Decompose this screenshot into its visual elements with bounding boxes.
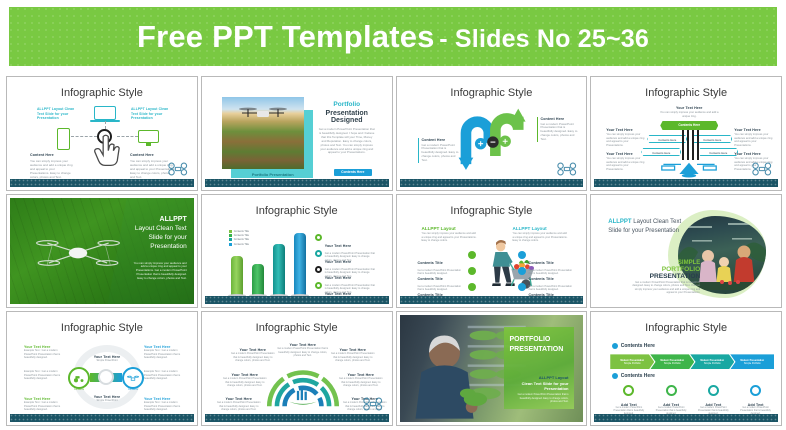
smartphone-icon: [57, 128, 70, 150]
slide-footer-bar: [10, 414, 194, 422]
ring-icon: [315, 250, 322, 257]
icon-card: Add Text Get a modern PowerPoint Present…: [653, 383, 690, 416]
slides-gallery-page: Free PPT Templates - Slides No 25~36 Inf…: [0, 0, 786, 430]
slide-title: Infographic Style: [594, 322, 778, 334]
slide-footer-bar: [205, 296, 389, 304]
chevron-row: Modern Presentation Simple Portfolio Mod…: [610, 354, 774, 369]
banner-subtitle: - Slides No 25~36: [439, 25, 649, 53]
curved-arrows-graphic: [448, 102, 546, 174]
slide-title: Infographic Style: [205, 322, 389, 334]
portfolio-heading: Portfolio Presentation Designed: [319, 101, 375, 124]
arc-label: Your Text Here Get a modern PowerPoint P…: [277, 343, 329, 357]
slide-thumbnail-1[interactable]: Infographic Style: [6, 76, 198, 191]
chevron-step: Modern Presentation Simple Portfolio: [690, 354, 734, 369]
slide-thumbnail-6[interactable]: Infographic Style Contents Title Content…: [201, 194, 393, 309]
vertical-farm-worker-photo: PORTFOLIO PRESENTATION ALLPPT Layout Cle…: [400, 315, 584, 422]
slide-thumbnail-2[interactable]: Portfolio Presentation Portfolio Present…: [201, 76, 393, 191]
stem-line: [682, 130, 683, 160]
badge-label-left: Contents: [67, 388, 91, 391]
slide-thumbnail-9[interactable]: Infographic Style Contents Contents Your…: [6, 311, 198, 426]
corner-text-block: Your Text Here Example Text : Get a mode…: [144, 397, 190, 412]
gear-icon: [518, 251, 526, 259]
portfolio-line1: PORTFOLIO: [510, 336, 551, 343]
badge-label-right: Contents: [121, 388, 145, 391]
slide-body: You can simply impress your audience and…: [133, 262, 187, 281]
arc-label: Your Text Here Get a modern PowerPoint P…: [223, 373, 267, 387]
drone-watermark-icon: [167, 162, 189, 176]
ring-icon: [315, 266, 322, 273]
arc-label: Your Text Here Get a modern PowerPoint P…: [217, 397, 261, 411]
slide-title: Infographic Style: [400, 87, 584, 99]
concentric-arcs-graphic: [257, 359, 349, 409]
tractor-icon: [73, 374, 85, 383]
slide-title: Infographic Style: [205, 205, 389, 217]
stem-line: [692, 130, 693, 160]
stem-line: [687, 130, 688, 160]
ring-icon: [315, 282, 322, 289]
header-banner: Free PPT Templates - Slides No 25~36: [9, 7, 777, 66]
drone-icon: [127, 374, 139, 383]
chart-bar: [273, 244, 285, 296]
slide-thumbnail-11[interactable]: PORTFOLIO PRESENTATION ALLPPT Layout Cle…: [396, 311, 588, 426]
laptop-icon: [94, 106, 116, 120]
portfolio-kicker: SIMPLE PORTFOLIO PRESENTATION: [632, 260, 700, 280]
slide-title: Infographic Style: [400, 205, 584, 217]
slide-thumbnail-12[interactable]: Infographic Style Contents Here Modern P…: [590, 311, 782, 426]
section-label-2: Contents Here: [612, 373, 655, 379]
slide-thumbnail-3[interactable]: Infographic Style Content Here Get a mod…: [396, 76, 588, 191]
panel-body: Get a modern PowerPoint Presentation tha…: [515, 393, 569, 403]
slide-thumbnail-8[interactable]: ALLPPT Layout Clean Text Slide for your …: [590, 194, 782, 309]
slide-footer-bar: [594, 414, 778, 422]
slide-footer-bar: [400, 296, 584, 304]
drone-icon: [32, 226, 124, 280]
chart-bar: [294, 233, 306, 296]
center-top-text: Your Text Here Simple PowerPoint: [86, 355, 128, 362]
stem-line: [697, 130, 698, 160]
slide-thumbnail-5[interactable]: ALLPPT Layout Clean Text Slide for your …: [6, 194, 198, 309]
bar-chart: [225, 228, 305, 296]
drone-watermark-icon: [362, 397, 384, 411]
cloud-icon: [518, 283, 526, 291]
cloud-icon: [750, 385, 761, 396]
icon-card: Add Text Get a modern PowerPoint Present…: [695, 383, 732, 416]
arc-label: Your Text Here Get a modern PowerPoint P…: [331, 348, 375, 362]
monitor-stand: [146, 143, 151, 146]
card-row: Add Text Get a modern PowerPoint Present…: [610, 383, 774, 416]
main-content-box: Contents Here: [660, 121, 718, 130]
panel-sub: Clean Text Slide for your Presentation: [511, 381, 569, 391]
chevron-step: Modern Presentation Simple Portfolio: [730, 354, 774, 369]
slide-title: Infographic Style: [10, 322, 194, 334]
side-head-block: Your Text Here You can simply impress yo…: [606, 128, 646, 147]
hand-pointer-icon: [94, 134, 120, 166]
drone-watermark-icon: [556, 162, 578, 176]
portfolio-line2: PRESENTATION: [510, 346, 564, 353]
corner-text-block: Your Text Here Example Text : Get a mode…: [144, 345, 190, 360]
chart-bar: [252, 264, 264, 296]
side-paragraph-left: Example Text : Get a modern PowerPoint P…: [24, 370, 68, 381]
drone-watermark-icon: [751, 162, 773, 176]
corner-text-block: Your Text Here Example Text : Get a mode…: [24, 345, 68, 360]
contents-here-button[interactable]: Contents Here: [334, 169, 372, 176]
slide-title: Infographic Style: [594, 87, 778, 99]
ring-icon: [315, 234, 322, 241]
slide-footer-bar: [594, 179, 778, 187]
arc-label: Your Text Here Get a modern PowerPoint P…: [339, 373, 383, 387]
side-head-block: Your Text Here You can simply impress yo…: [734, 128, 774, 147]
circle-badge-blue[interactable]: [122, 367, 144, 389]
content-box: Contents Here: [641, 148, 681, 156]
right-head-text: ALLPPT Layout Clean Text Slide for your …: [131, 107, 175, 121]
leaf-icon: [623, 385, 634, 396]
leaf-icon: [468, 251, 476, 259]
slide-heading: ALLPPT Layout Clean Text Slide for your …: [121, 215, 187, 251]
section-label-1: Contents Here: [612, 343, 655, 349]
chevron-step: Modern Presentation Simple Portfolio: [650, 354, 694, 369]
slide-footer-bar: [205, 414, 389, 422]
plant-icon: [468, 283, 476, 291]
green-text-panel: PORTFOLIO PRESENTATION ALLPPT Layout Cle…: [504, 327, 574, 409]
side-paragraph-right: Example Text : Get a modern PowerPoint P…: [144, 370, 190, 381]
slide-footer-bar: [205, 179, 389, 187]
slide-footer-bar: [10, 179, 194, 187]
portfolio-body: Get a modern PowerPoint Presentation tha…: [628, 281, 700, 295]
corner-text-block: Your Text Here Example Text : Get a mode…: [24, 397, 68, 412]
slide-title: Infographic Style: [10, 87, 194, 99]
slide-thumbnail-4[interactable]: Infographic Style Your Text Here You can…: [590, 76, 782, 191]
icon-card: Add Text Get a modern PowerPoint Present…: [610, 383, 647, 416]
content-box: Contents Here: [647, 135, 687, 143]
water-icon: [708, 385, 719, 396]
panel-accent: ALLPPT Layout: [539, 375, 569, 380]
agricultural-drone-spraying-photo: ALLPPT Layout Clean Text Slide for your …: [10, 198, 194, 305]
plant-icon: [666, 385, 677, 396]
monitor-icon: [138, 130, 159, 143]
drone-over-farmland-photo: [222, 97, 304, 169]
chevron-step: Modern Presentation Simple Portfolio: [610, 354, 654, 369]
left-head-text: ALLPPT Layout Clean Text Slide for your …: [37, 107, 81, 121]
slide-footer-bar: [400, 179, 584, 187]
top-head-block: Your Text Here You can simply impress yo…: [658, 106, 720, 118]
content-left-block: Content Here You can simply impress your…: [30, 153, 74, 179]
content-right-block: Content Here Get a modern PowerPoint Pre…: [537, 117, 579, 142]
portfolio-body: Get a modern PowerPoint Presentation tha…: [319, 128, 375, 155]
center-bottom-text: Your Text Here Simple PowerPoint: [86, 395, 128, 402]
number-badge-1: [612, 343, 618, 349]
slide-heading: ALLPPT Layout Clean Text Slide for your …: [608, 218, 682, 236]
connector-line: [117, 136, 138, 137]
arc-label: Your Text Here Get a modern PowerPoint P…: [231, 348, 275, 362]
photo-caption: Portfolio Presentation: [240, 172, 306, 177]
left-head: ALLPPT Layout You can simply impress you…: [422, 226, 478, 243]
slide-grid: Infographic Style: [6, 76, 782, 426]
slide-thumbnail-7[interactable]: Infographic Style ALLPPT Layout You can …: [396, 194, 588, 309]
chart-icon: [518, 267, 526, 275]
tractor-icon: [468, 267, 476, 275]
content-left-block: Content Here Get a modern PowerPoint Pre…: [418, 138, 460, 163]
number-badge-2: [612, 373, 618, 379]
chart-bar: [231, 256, 243, 296]
slide-thumbnail-10[interactable]: Infographic Style Your Tex: [201, 311, 393, 426]
banner-title: Free PPT Templates: [137, 19, 435, 54]
icon-card: Add Text Get a modern PowerPoint Present…: [737, 383, 774, 416]
content-box: Contents Here: [698, 148, 738, 156]
side-head-block: Your Text Here You can simply impress yo…: [606, 152, 646, 171]
